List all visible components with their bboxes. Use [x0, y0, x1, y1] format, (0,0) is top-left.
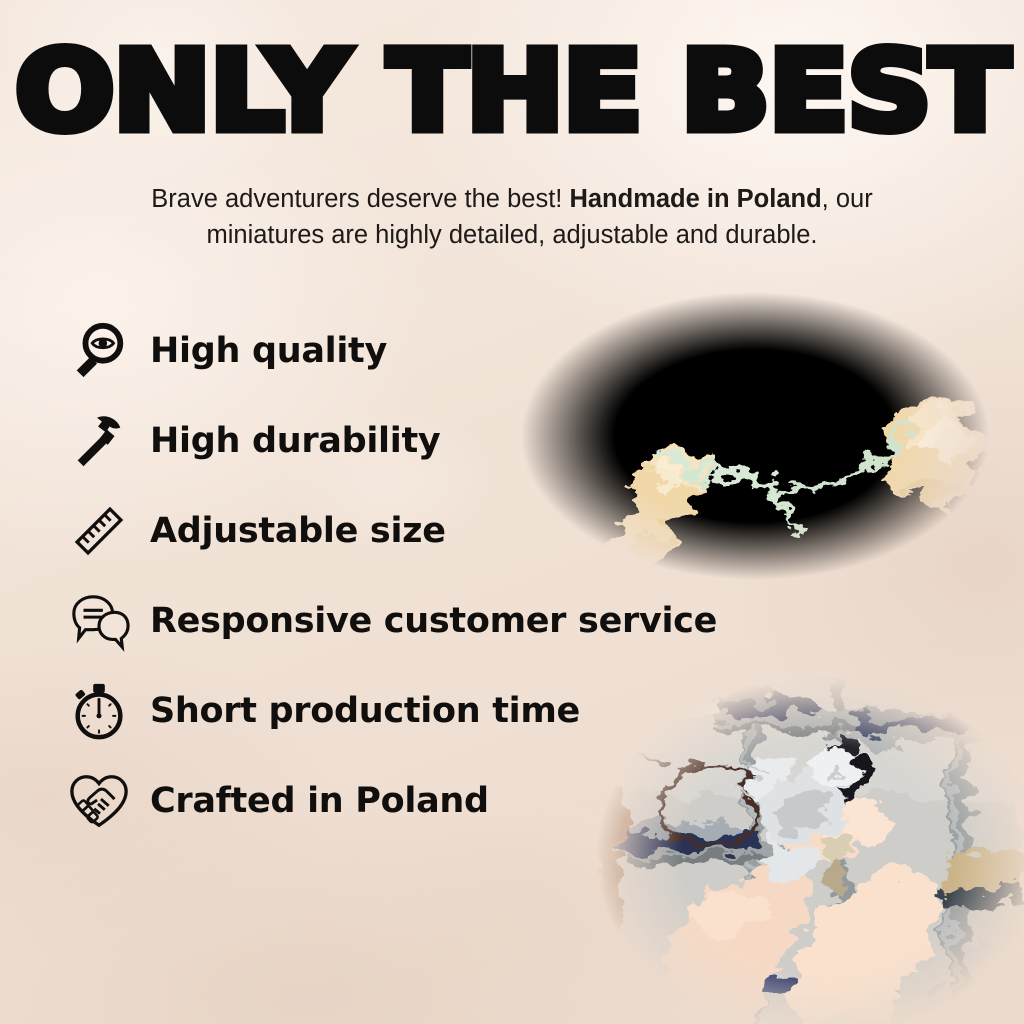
- feature-item-crafted-in-poland: Crafted in Poland: [62, 756, 762, 846]
- ruler-icon: [62, 494, 136, 568]
- feature-label: Adjustable size: [150, 511, 446, 551]
- feature-label: High durability: [150, 421, 440, 461]
- feature-item-responsive-customer-service: Responsive customer service: [62, 576, 762, 666]
- speech-bubbles-icon: [62, 584, 136, 658]
- hammer-icon: [62, 404, 136, 478]
- feature-item-short-production-time: Short production time: [62, 666, 762, 756]
- promo-poster: ONLY THE BEST Brave adventurers deserve …: [0, 0, 1024, 1024]
- feature-label: Crafted in Poland: [150, 781, 489, 821]
- feature-item-adjustable-size: Adjustable size: [62, 486, 762, 576]
- feature-label: High quality: [150, 331, 387, 371]
- feature-label: Short production time: [150, 691, 580, 731]
- handshake-heart-icon: [62, 764, 136, 838]
- magnifier-eye-icon: [62, 314, 136, 388]
- page-title: ONLY THE BEST: [0, 36, 1024, 146]
- subtitle-highlight: Handmade in Poland: [569, 185, 821, 213]
- stopwatch-icon: [62, 674, 136, 748]
- feature-list: High quality High durability: [62, 306, 762, 846]
- subtitle: Brave adventurers deserve the best! Hand…: [92, 181, 932, 253]
- feature-item-high-durability: High durability: [62, 396, 762, 486]
- feature-item-high-quality: High quality: [62, 306, 762, 396]
- feature-label: Responsive customer service: [150, 601, 717, 641]
- subtitle-lead: Brave adventurers deserve the best!: [151, 185, 569, 213]
